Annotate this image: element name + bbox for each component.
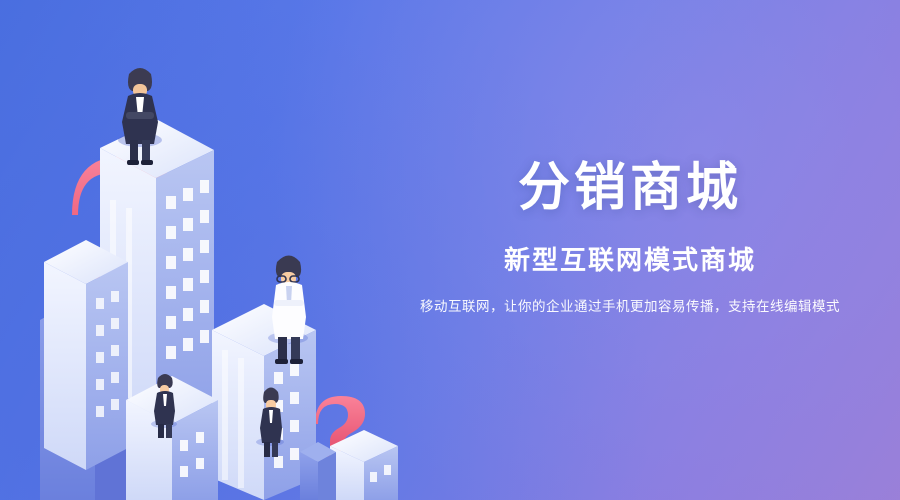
hero-subheadline: 新型互联网模式商城 bbox=[400, 245, 860, 276]
building-slim-right bbox=[300, 442, 336, 500]
hero-banner: 分销商城 新型互联网模式商城 移动互联网，让你的企业通过手机更加容易传播，支持在… bbox=[0, 0, 900, 500]
hero-text-block: 分销商城 新型互联网模式商城 移动互联网，让你的企业通过手机更加容易传播，支持在… bbox=[400, 160, 860, 317]
city-illustration bbox=[0, 0, 430, 500]
building-slim-left bbox=[44, 240, 128, 470]
hero-description: 移动互联网，让你的企业通过手机更加容易传播，支持在线编辑模式 bbox=[400, 298, 860, 317]
hero-headline: 分销商城 bbox=[400, 160, 860, 217]
